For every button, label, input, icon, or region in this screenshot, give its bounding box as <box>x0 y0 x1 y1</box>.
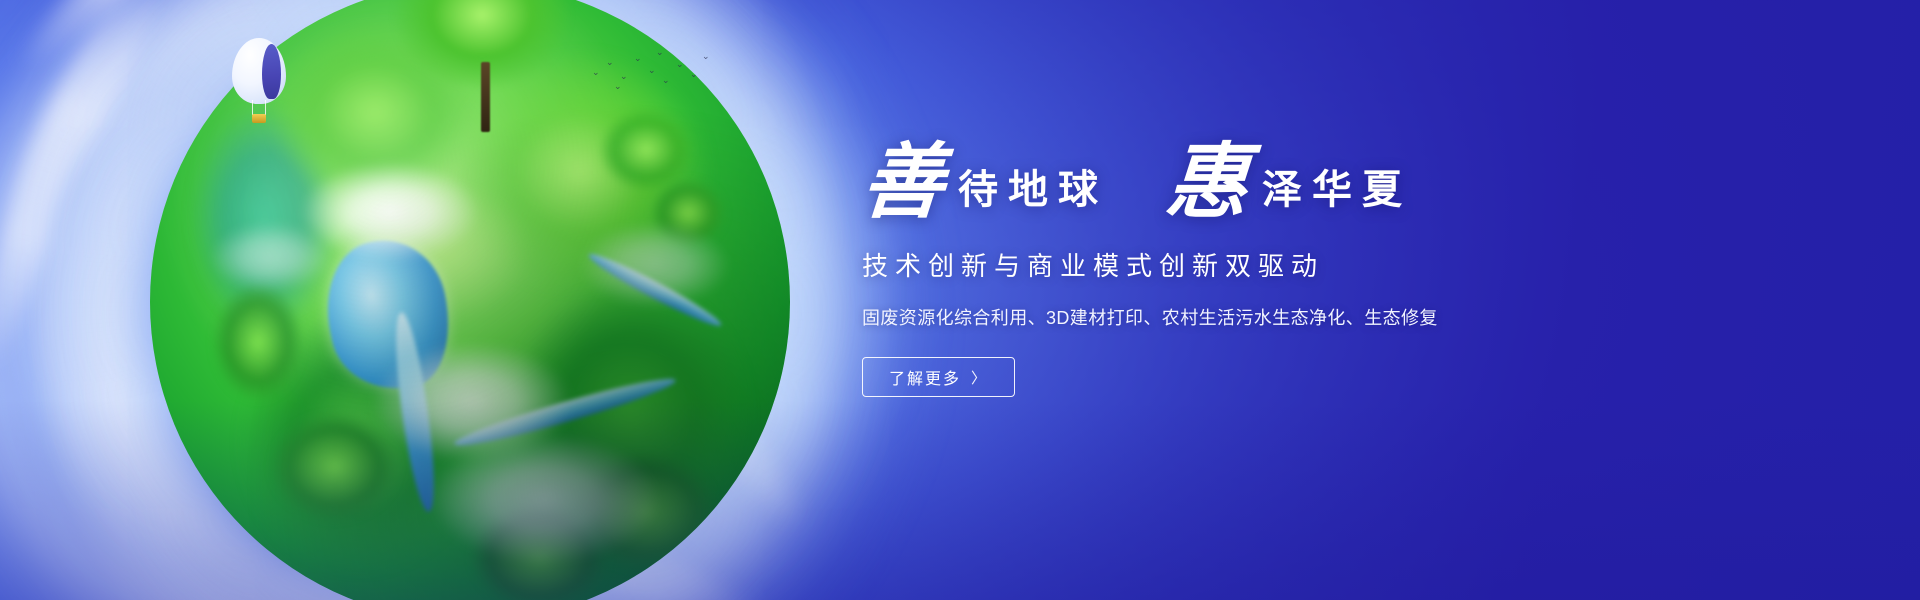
hot-air-balloon-icon <box>232 38 286 130</box>
balloon-stripe <box>262 44 281 99</box>
learn-more-label: 了解更多 <box>889 365 961 389</box>
tree-trunk <box>481 62 490 132</box>
learn-more-button[interactable]: 了解更多 〉 <box>862 357 1015 397</box>
balloon-basket <box>252 114 266 123</box>
balloon-ropes <box>252 100 266 115</box>
headline-char-shan: 善 <box>859 144 948 222</box>
birds-flock-icon: ⌄ ⌄ ⌄ ⌄ ⌄ ⌄ ⌄ ⌄ ⌄ ⌄ ⌄ <box>590 48 720 94</box>
headline-text-zehuaxia: 泽华夏 <box>1262 170 1412 222</box>
banner-description: 固废资源化综合利用、3D建材打印、农村生活污水生态净化、生态修复 <box>862 304 1562 330</box>
headline-char-hui: 惠 <box>1163 144 1252 222</box>
headline-text-daidiqiu: 待地球 <box>958 170 1108 222</box>
bottom-vignette <box>0 400 1920 600</box>
hero-banner: ⌄ ⌄ ⌄ ⌄ ⌄ ⌄ ⌄ ⌄ ⌄ ⌄ ⌄ 善 待地球 惠 泽华夏 技术创新与商… <box>0 0 1920 600</box>
chevron-right-icon: 〉 <box>971 367 988 388</box>
banner-subtitle: 技术创新与商业模式创新双驱动 <box>862 246 1562 283</box>
banner-content: 善 待地球 惠 泽华夏 技术创新与商业模式创新双驱动 固废资源化综合利用、3D建… <box>862 126 1562 397</box>
page-title: 善 待地球 惠 泽华夏 <box>862 126 1562 222</box>
